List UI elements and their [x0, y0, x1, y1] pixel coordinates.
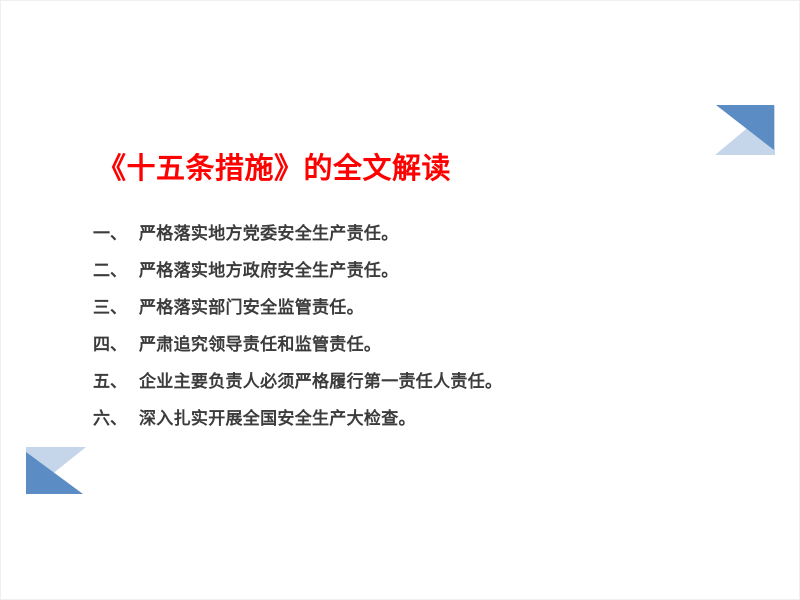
list-item-marker: 二、 — [93, 256, 139, 281]
list-item: 五、 企业主要负责人必须严格履行第一责任人责任。 — [93, 367, 502, 404]
list-item: 六、 深入扎实开展全国安全生产大检查。 — [93, 404, 502, 441]
list-item-marker: 六、 — [93, 404, 139, 429]
triangle-accent-dark-top-right-icon — [716, 105, 774, 150]
list-item-label: 深入扎实开展全国安全生产大检查。 — [139, 404, 416, 429]
list-item-marker: 三、 — [93, 293, 139, 318]
slide-canvas: 《十五条措施》的全文解读 一、 严格落实地方党委安全生产责任。 二、 严格落实地… — [0, 0, 800, 600]
list-item-marker: 一、 — [93, 219, 139, 244]
triangle-accent-light-top-right-icon — [715, 105, 775, 155]
triangle-accent-dark-bottom-left-icon — [26, 452, 83, 494]
list-item: 三、 严格落实部门安全监管责任。 — [93, 293, 502, 330]
list-item-label: 严格落实地方党委安全生产责任。 — [139, 219, 399, 244]
list-item-marker: 五、 — [93, 367, 139, 392]
list-item: 一、 严格落实地方党委安全生产责任。 — [93, 219, 502, 256]
list-item-label: 严格落实地方政府安全生产责任。 — [139, 256, 399, 281]
list-item-label: 严肃追究领导责任和监管责任。 — [139, 330, 381, 355]
list-item: 四、 严肃追究领导责任和监管责任。 — [93, 330, 502, 367]
slide-title: 《十五条措施》的全文解读 — [97, 145, 451, 187]
measures-list: 一、 严格落实地方党委安全生产责任。 二、 严格落实地方政府安全生产责任。 三、… — [93, 219, 502, 441]
list-item: 二、 严格落实地方政府安全生产责任。 — [93, 256, 502, 293]
list-item-marker: 四、 — [93, 330, 139, 355]
list-item-label: 严格落实部门安全监管责任。 — [139, 293, 364, 318]
list-item-label: 企业主要负责人必须严格履行第一责任人责任。 — [139, 367, 502, 392]
triangle-accent-light-bottom-left-icon — [26, 447, 86, 495]
